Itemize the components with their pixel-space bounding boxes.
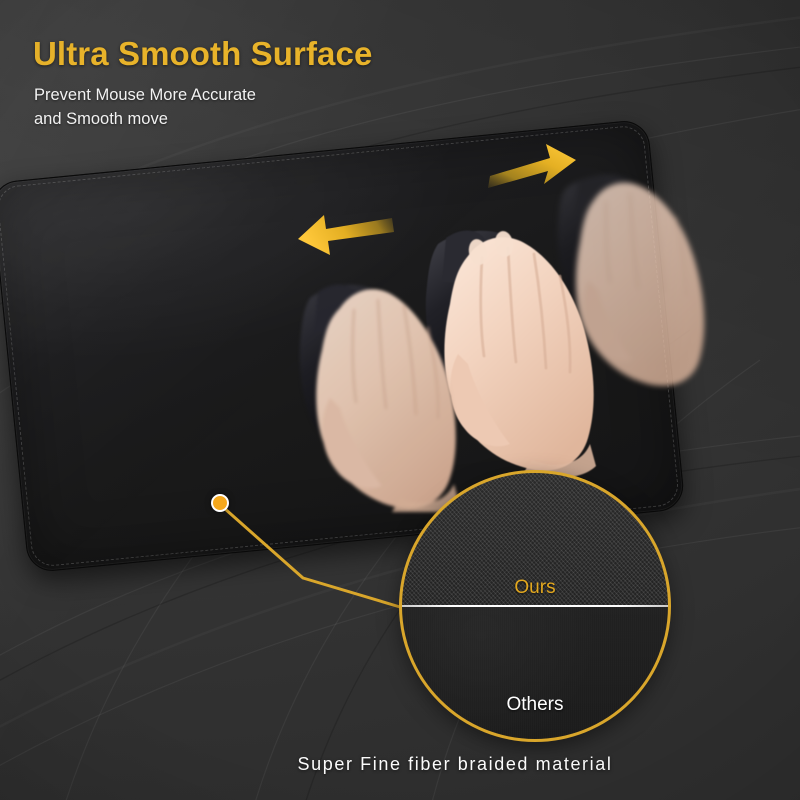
material-caption: Super Fine fiber braided material <box>0 754 800 775</box>
comparison-divider <box>401 605 669 608</box>
label-others: Others <box>401 694 669 716</box>
material-comparison-circle: Ours Others <box>401 472 669 740</box>
callout-dot-icon[interactable] <box>211 494 229 512</box>
texture-others-plain <box>401 606 669 740</box>
product-marketing-image: Ultra Smooth Surface Prevent Mouse More … <box>0 0 800 800</box>
label-ours: Ours <box>401 577 669 599</box>
callout-leader-line <box>0 0 800 800</box>
